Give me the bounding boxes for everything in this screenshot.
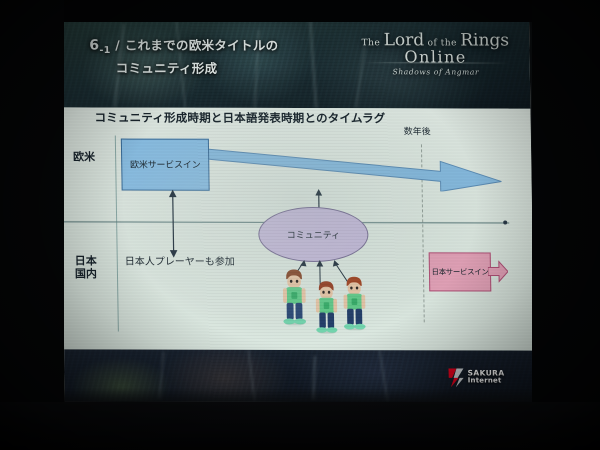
japan-service-start-label: 日本サービスイン	[430, 266, 490, 277]
slide-header-artwork: 6-1 / これまでの欧米タイトルの コミュニティ形成 The Lord of …	[59, 19, 530, 108]
sakura-mark-icon	[448, 368, 463, 387]
community-ellipse: コミュニティ	[258, 207, 369, 262]
slide: 6-1 / これまでの欧米タイトルの コミュニティ形成 The Lord of …	[59, 19, 535, 402]
timeline-end-marker	[503, 220, 507, 224]
presentation-room-photo: 6-1 / これまでの欧米タイトルの コミュニティ形成 The Lord of …	[0, 0, 600, 450]
lotro-logo: The Lord of the Rings Online Shadows of …	[355, 32, 516, 77]
slide-title-line1: これまでの欧米タイトルの	[125, 38, 279, 53]
slide-number-suffix: -1	[99, 45, 110, 56]
room-dark-right	[532, 0, 600, 450]
room-dark-top	[0, 0, 600, 22]
overseas-service-arrow-icon	[204, 147, 502, 192]
room-dark-bottom	[0, 402, 600, 450]
overseas-service-start-label: 欧米サービスイン	[122, 158, 208, 171]
slide-body: コミュニティ形成時期と日本語発表時期とのタイムラグ 欧米 日本 国内 数年後	[60, 107, 534, 350]
slide-title-separator: /	[110, 38, 124, 53]
slide-title-line2: コミュニティ形成	[90, 59, 390, 79]
slide-number: 6	[89, 37, 99, 53]
axis-label-japan-line2: 国内	[75, 267, 97, 280]
sakura-internet: Internet	[468, 378, 505, 385]
sakura-logo-text: SAKURA Internet	[468, 370, 505, 385]
japan-service-start-box: 日本サービスイン	[429, 252, 492, 291]
time-lag-double-arrow-icon	[167, 190, 180, 258]
player-character-icon	[314, 278, 339, 333]
several-years-label: 数年後	[404, 124, 431, 137]
axis-label-japan: 日本 国内	[75, 255, 97, 280]
projection-screen: 6-1 / これまでの欧米タイトルの コミュニティ形成 The Lord of …	[59, 19, 535, 402]
sakura-internet-logo: SAKURA Internet	[448, 365, 520, 389]
japanese-players-caption: 日本人プレーヤーも参加	[125, 253, 235, 268]
slide-title: 6-1 / これまでの欧米タイトルの コミュニティ形成	[89, 35, 390, 78]
community-label: コミュニティ	[259, 228, 367, 241]
overseas-service-start-box: 欧米サービスイン	[121, 139, 210, 191]
player-character-icon	[281, 267, 307, 326]
room-dark-left	[0, 0, 64, 450]
player-characters-group	[281, 260, 378, 338]
axis-label-japan-line1: 日本	[75, 254, 97, 267]
lotro-subtitle: Shadows of Angmar	[356, 68, 516, 77]
japan-service-arrow-icon	[488, 260, 508, 282]
lotro-online: Online	[355, 48, 515, 67]
lotro-rings: Rings	[460, 30, 509, 50]
slide-headline: コミュニティ形成時期と日本語発表時期とのタイムラグ	[94, 109, 385, 126]
lotro-the: The	[362, 38, 381, 48]
axis-label-overseas: 欧米	[73, 151, 95, 164]
player-character-icon	[342, 274, 367, 330]
vertical-axis	[115, 136, 119, 332]
